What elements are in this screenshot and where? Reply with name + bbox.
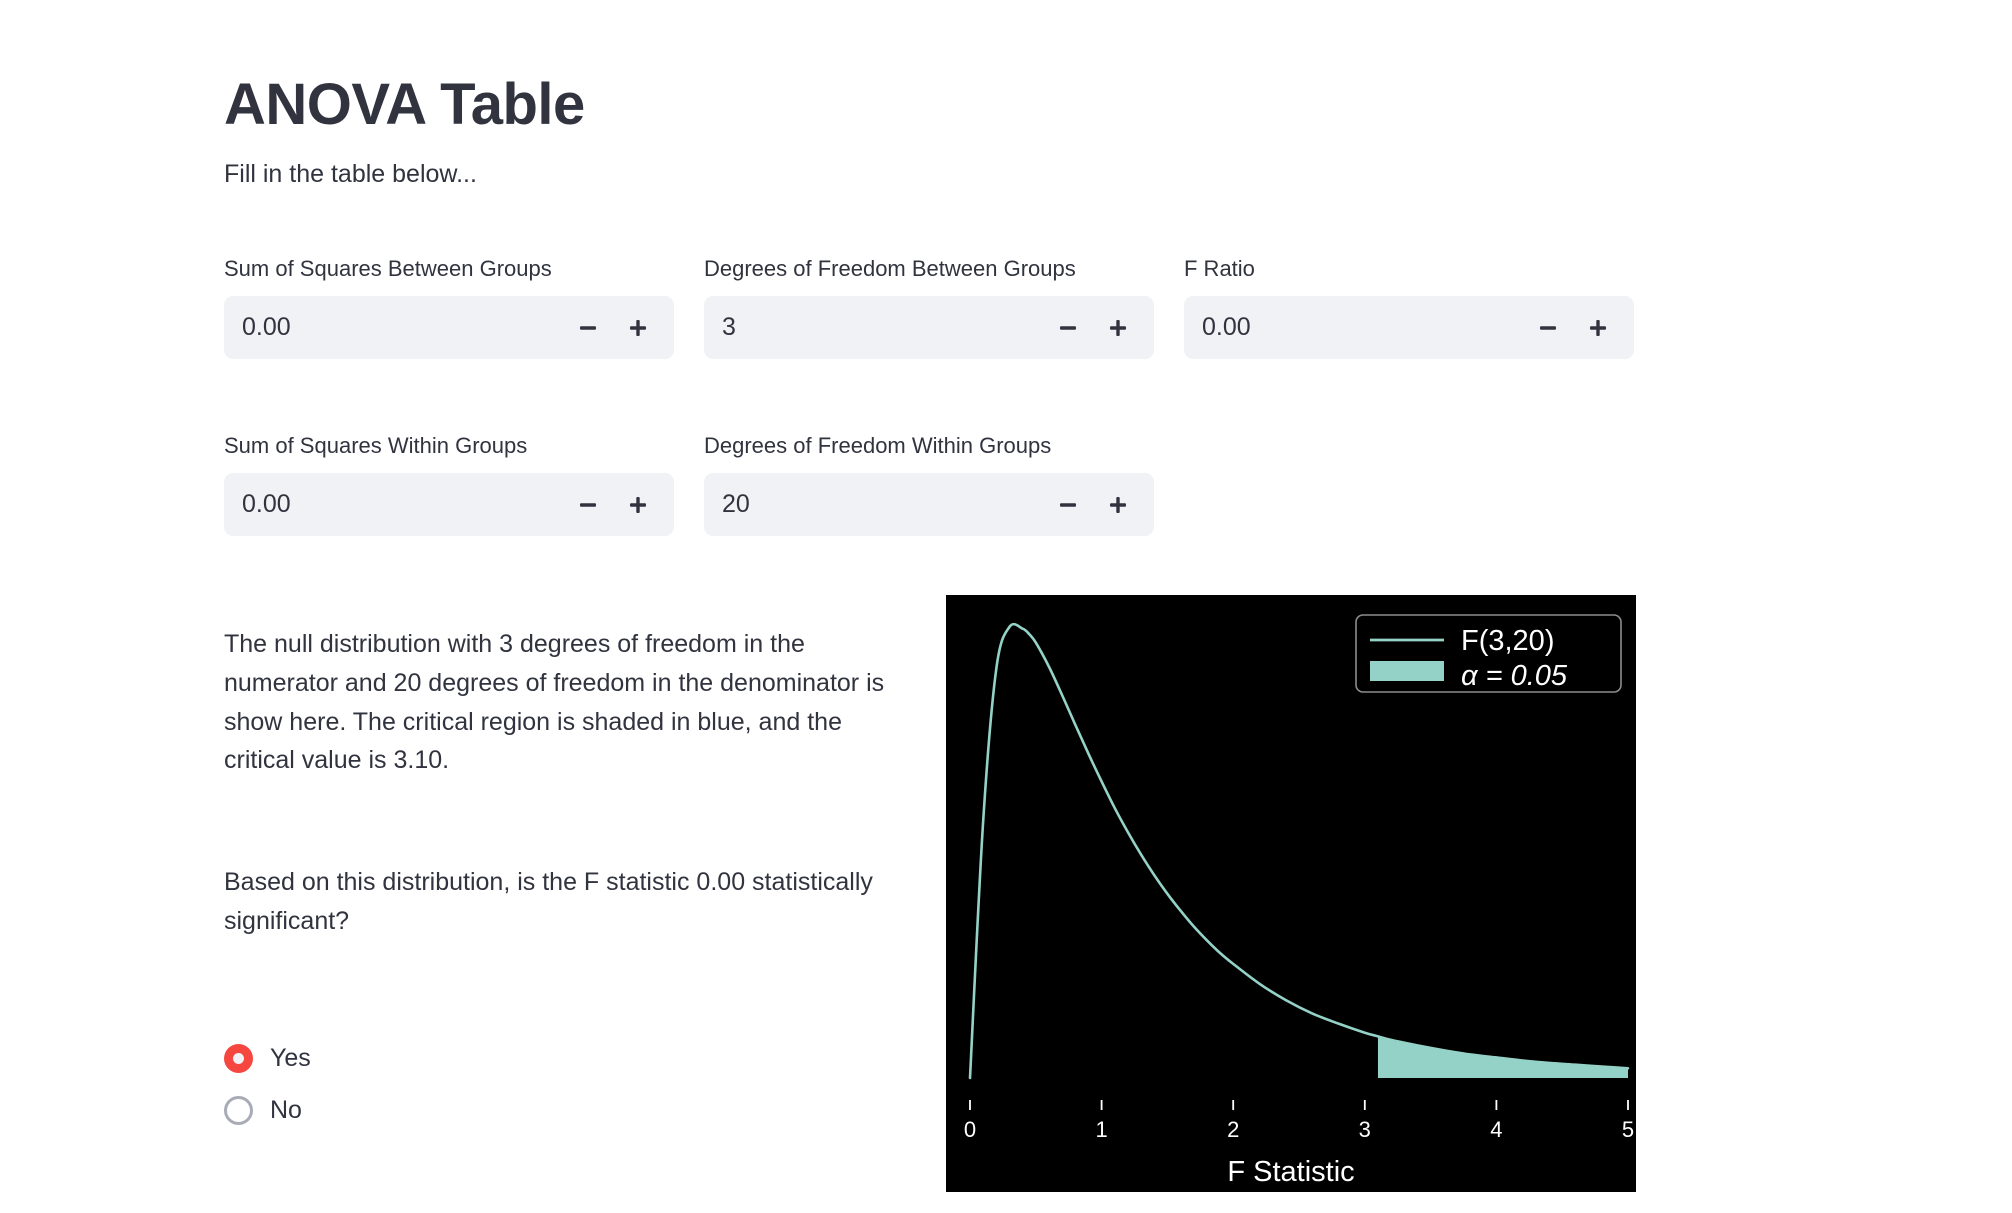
sum-of-squares-within-groups-stepper[interactable]: 0.00: [224, 473, 674, 536]
sum-of-squares-between-groups-stepper[interactable]: 0.00: [224, 296, 674, 359]
x-axis-tick-label: 2: [1227, 1117, 1239, 1142]
field-label: Sum of Squares Within Groups: [224, 429, 674, 462]
radio-option-label: Yes: [270, 1046, 311, 1071]
legend-label: F(3,20): [1461, 625, 1554, 657]
radio-option-no[interactable]: No: [224, 1084, 311, 1136]
legend-patch-swatch: [1370, 661, 1444, 681]
legend-label: α = 0.05: [1461, 660, 1568, 692]
radio-option-label: No: [270, 1098, 302, 1123]
radio-unselected-icon[interactable]: [224, 1096, 253, 1125]
minus-icon[interactable]: [1046, 473, 1090, 536]
x-axis-tick-label: 3: [1359, 1117, 1371, 1142]
f-ratio-input[interactable]: 0.00: [1184, 315, 1526, 340]
f-ratio-stepper[interactable]: 0.00: [1184, 296, 1634, 359]
field-label: Sum of Squares Between Groups: [224, 252, 674, 285]
radio-selected-icon[interactable]: [224, 1044, 253, 1073]
x-axis-ticks: 012345: [964, 1100, 1634, 1142]
plus-icon[interactable]: [1096, 296, 1140, 359]
f-distribution-chart: 012345 F Statistic F(3,20) α = 0.05: [946, 595, 1636, 1192]
sum-of-squares-between-groups-input[interactable]: 0.00: [224, 315, 566, 340]
minus-icon[interactable]: [1526, 296, 1570, 359]
chart-canvas: 012345 F Statistic F(3,20) α = 0.05: [946, 595, 1636, 1192]
field-sum-of-squares-between-groups: Sum of Squares Between Groups 0.00: [224, 252, 674, 359]
field-label: F Ratio: [1184, 252, 1634, 285]
field-degrees-of-freedom-within-groups: Degrees of Freedom Within Groups 20: [704, 429, 1154, 536]
field-sum-of-squares-within-groups: Sum of Squares Within Groups 0.00: [224, 429, 674, 536]
page-subtitle: Fill in the table below...: [224, 157, 477, 192]
plus-icon[interactable]: [616, 473, 660, 536]
field-f-ratio: F Ratio 0.00: [1184, 252, 1634, 359]
chart-legend: F(3,20) α = 0.05: [1356, 615, 1621, 692]
x-axis-title: F Statistic: [1227, 1156, 1354, 1188]
x-axis-tick-label: 0: [964, 1117, 976, 1142]
plus-icon[interactable]: [1096, 473, 1140, 536]
degrees-of-freedom-within-groups-stepper[interactable]: 20: [704, 473, 1154, 536]
field-label: Degrees of Freedom Between Groups: [704, 252, 1154, 285]
field-degrees-of-freedom-between-groups: Degrees of Freedom Between Groups 3: [704, 252, 1154, 359]
significance-question: Based on this distribution, is the F sta…: [224, 863, 904, 941]
plus-icon[interactable]: [1576, 296, 1620, 359]
page-title: ANOVA Table: [224, 75, 585, 136]
radio-option-yes[interactable]: Yes: [224, 1032, 311, 1084]
minus-icon[interactable]: [1046, 296, 1090, 359]
sum-of-squares-within-groups-input[interactable]: 0.00: [224, 492, 566, 517]
plus-icon[interactable]: [616, 296, 660, 359]
degrees-of-freedom-between-groups-stepper[interactable]: 3: [704, 296, 1154, 359]
degrees-of-freedom-within-groups-input[interactable]: 20: [704, 492, 1046, 517]
x-axis-tick-label: 4: [1490, 1117, 1502, 1142]
x-axis-tick-label: 5: [1622, 1117, 1634, 1142]
anova-table-page: ANOVA Table Fill in the table below... S…: [0, 0, 2012, 1213]
distribution-description: The null distribution with 3 degrees of …: [224, 625, 904, 780]
minus-icon[interactable]: [566, 473, 610, 536]
minus-icon[interactable]: [566, 296, 610, 359]
degrees-of-freedom-between-groups-input[interactable]: 3: [704, 315, 1046, 340]
significance-radio-group[interactable]: Yes No: [224, 1032, 311, 1136]
x-axis-tick-label: 1: [1095, 1117, 1107, 1142]
field-label: Degrees of Freedom Within Groups: [704, 429, 1154, 462]
